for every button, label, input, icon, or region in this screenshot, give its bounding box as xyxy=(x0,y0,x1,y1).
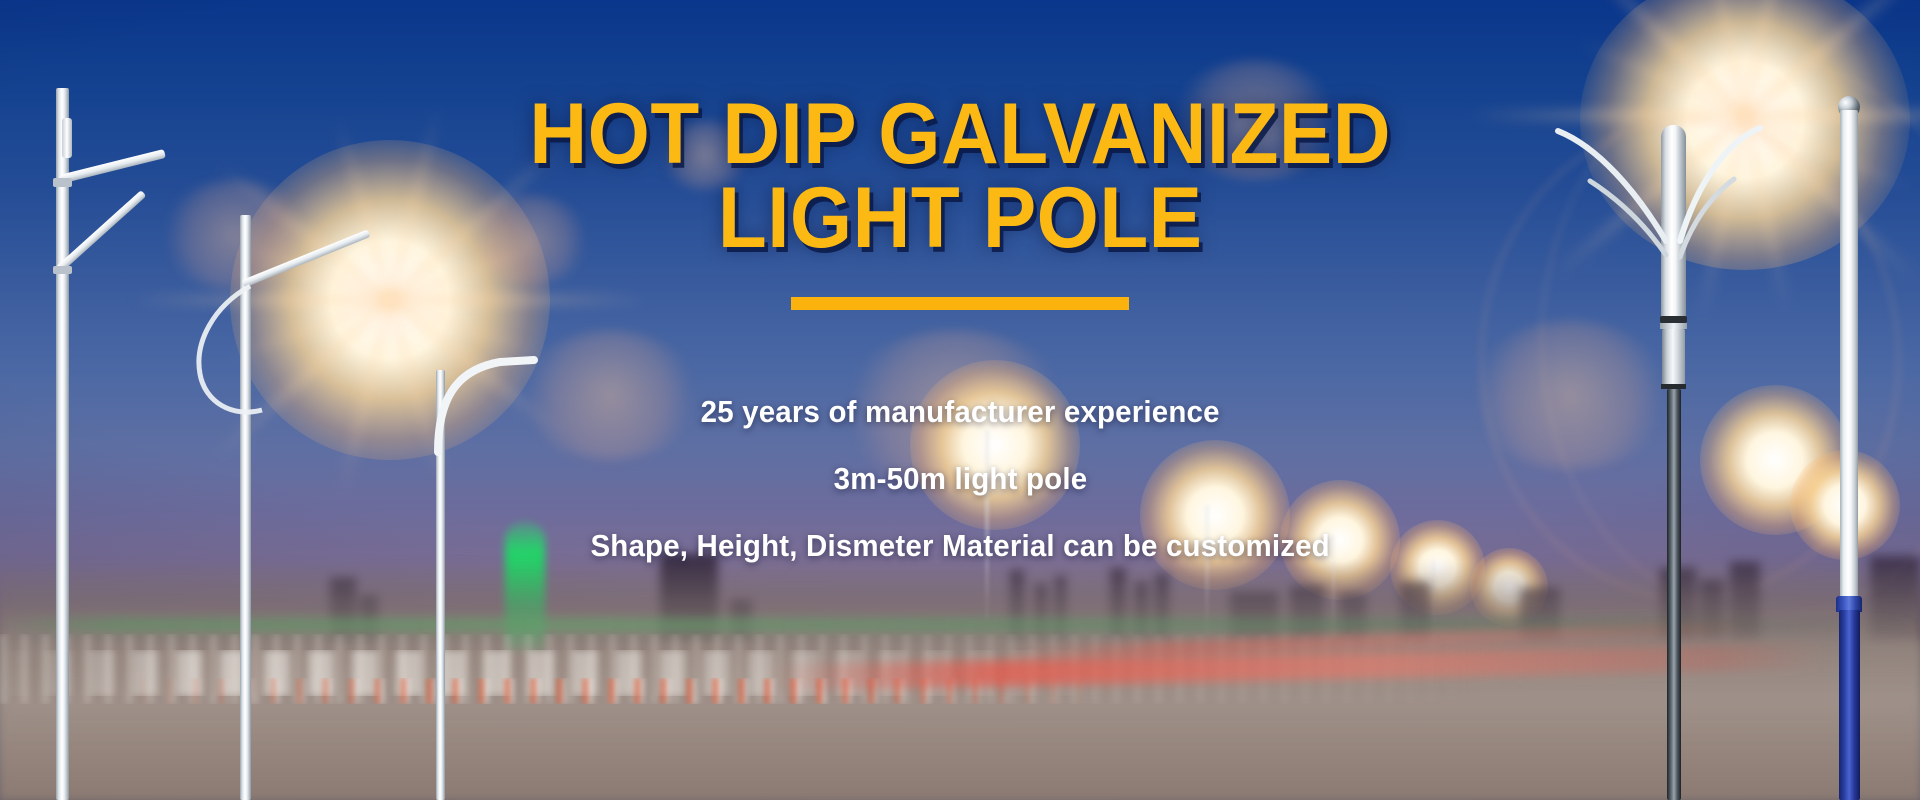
title-divider-bar xyxy=(791,297,1129,310)
headline-line-1: HOT DIP GALVANIZED xyxy=(529,86,1391,182)
page-title: HOT DIP GALVANIZED LIGHT POLE xyxy=(529,92,1391,261)
subtitle-pole-range: 3m-50m light pole xyxy=(833,461,1087,497)
hero-banner: HOT DIP GALVANIZED LIGHT POLE 25 years o… xyxy=(0,0,1920,800)
subtitle-experience: 25 years of manufacturer experience xyxy=(700,394,1219,430)
headline-line-2: LIGHT POLE xyxy=(529,176,1391,260)
subtitle-customization: Shape, Height, Dismeter Material can be … xyxy=(590,528,1329,564)
banner-content: HOT DIP GALVANIZED LIGHT POLE 25 years o… xyxy=(0,0,1920,800)
